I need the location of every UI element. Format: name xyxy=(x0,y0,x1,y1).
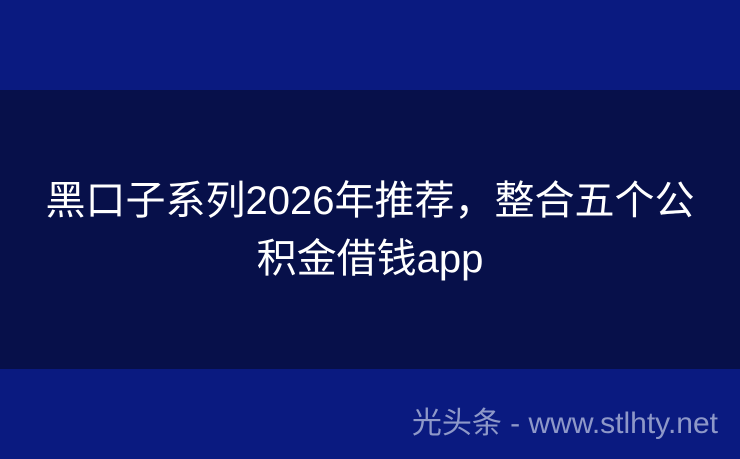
headline-text: 黑口子系列2026年推荐，整合五个公积金借钱app xyxy=(40,172,700,288)
banner-image: 黑口子系列2026年推荐，整合五个公积金借钱app 光头条 - www.stlh… xyxy=(0,0,740,459)
headline-container: 黑口子系列2026年推荐，整合五个公积金借钱app xyxy=(0,90,740,369)
top-color-band xyxy=(0,0,740,90)
watermark-text: 光头条 - www.stlhty.net xyxy=(412,404,718,444)
